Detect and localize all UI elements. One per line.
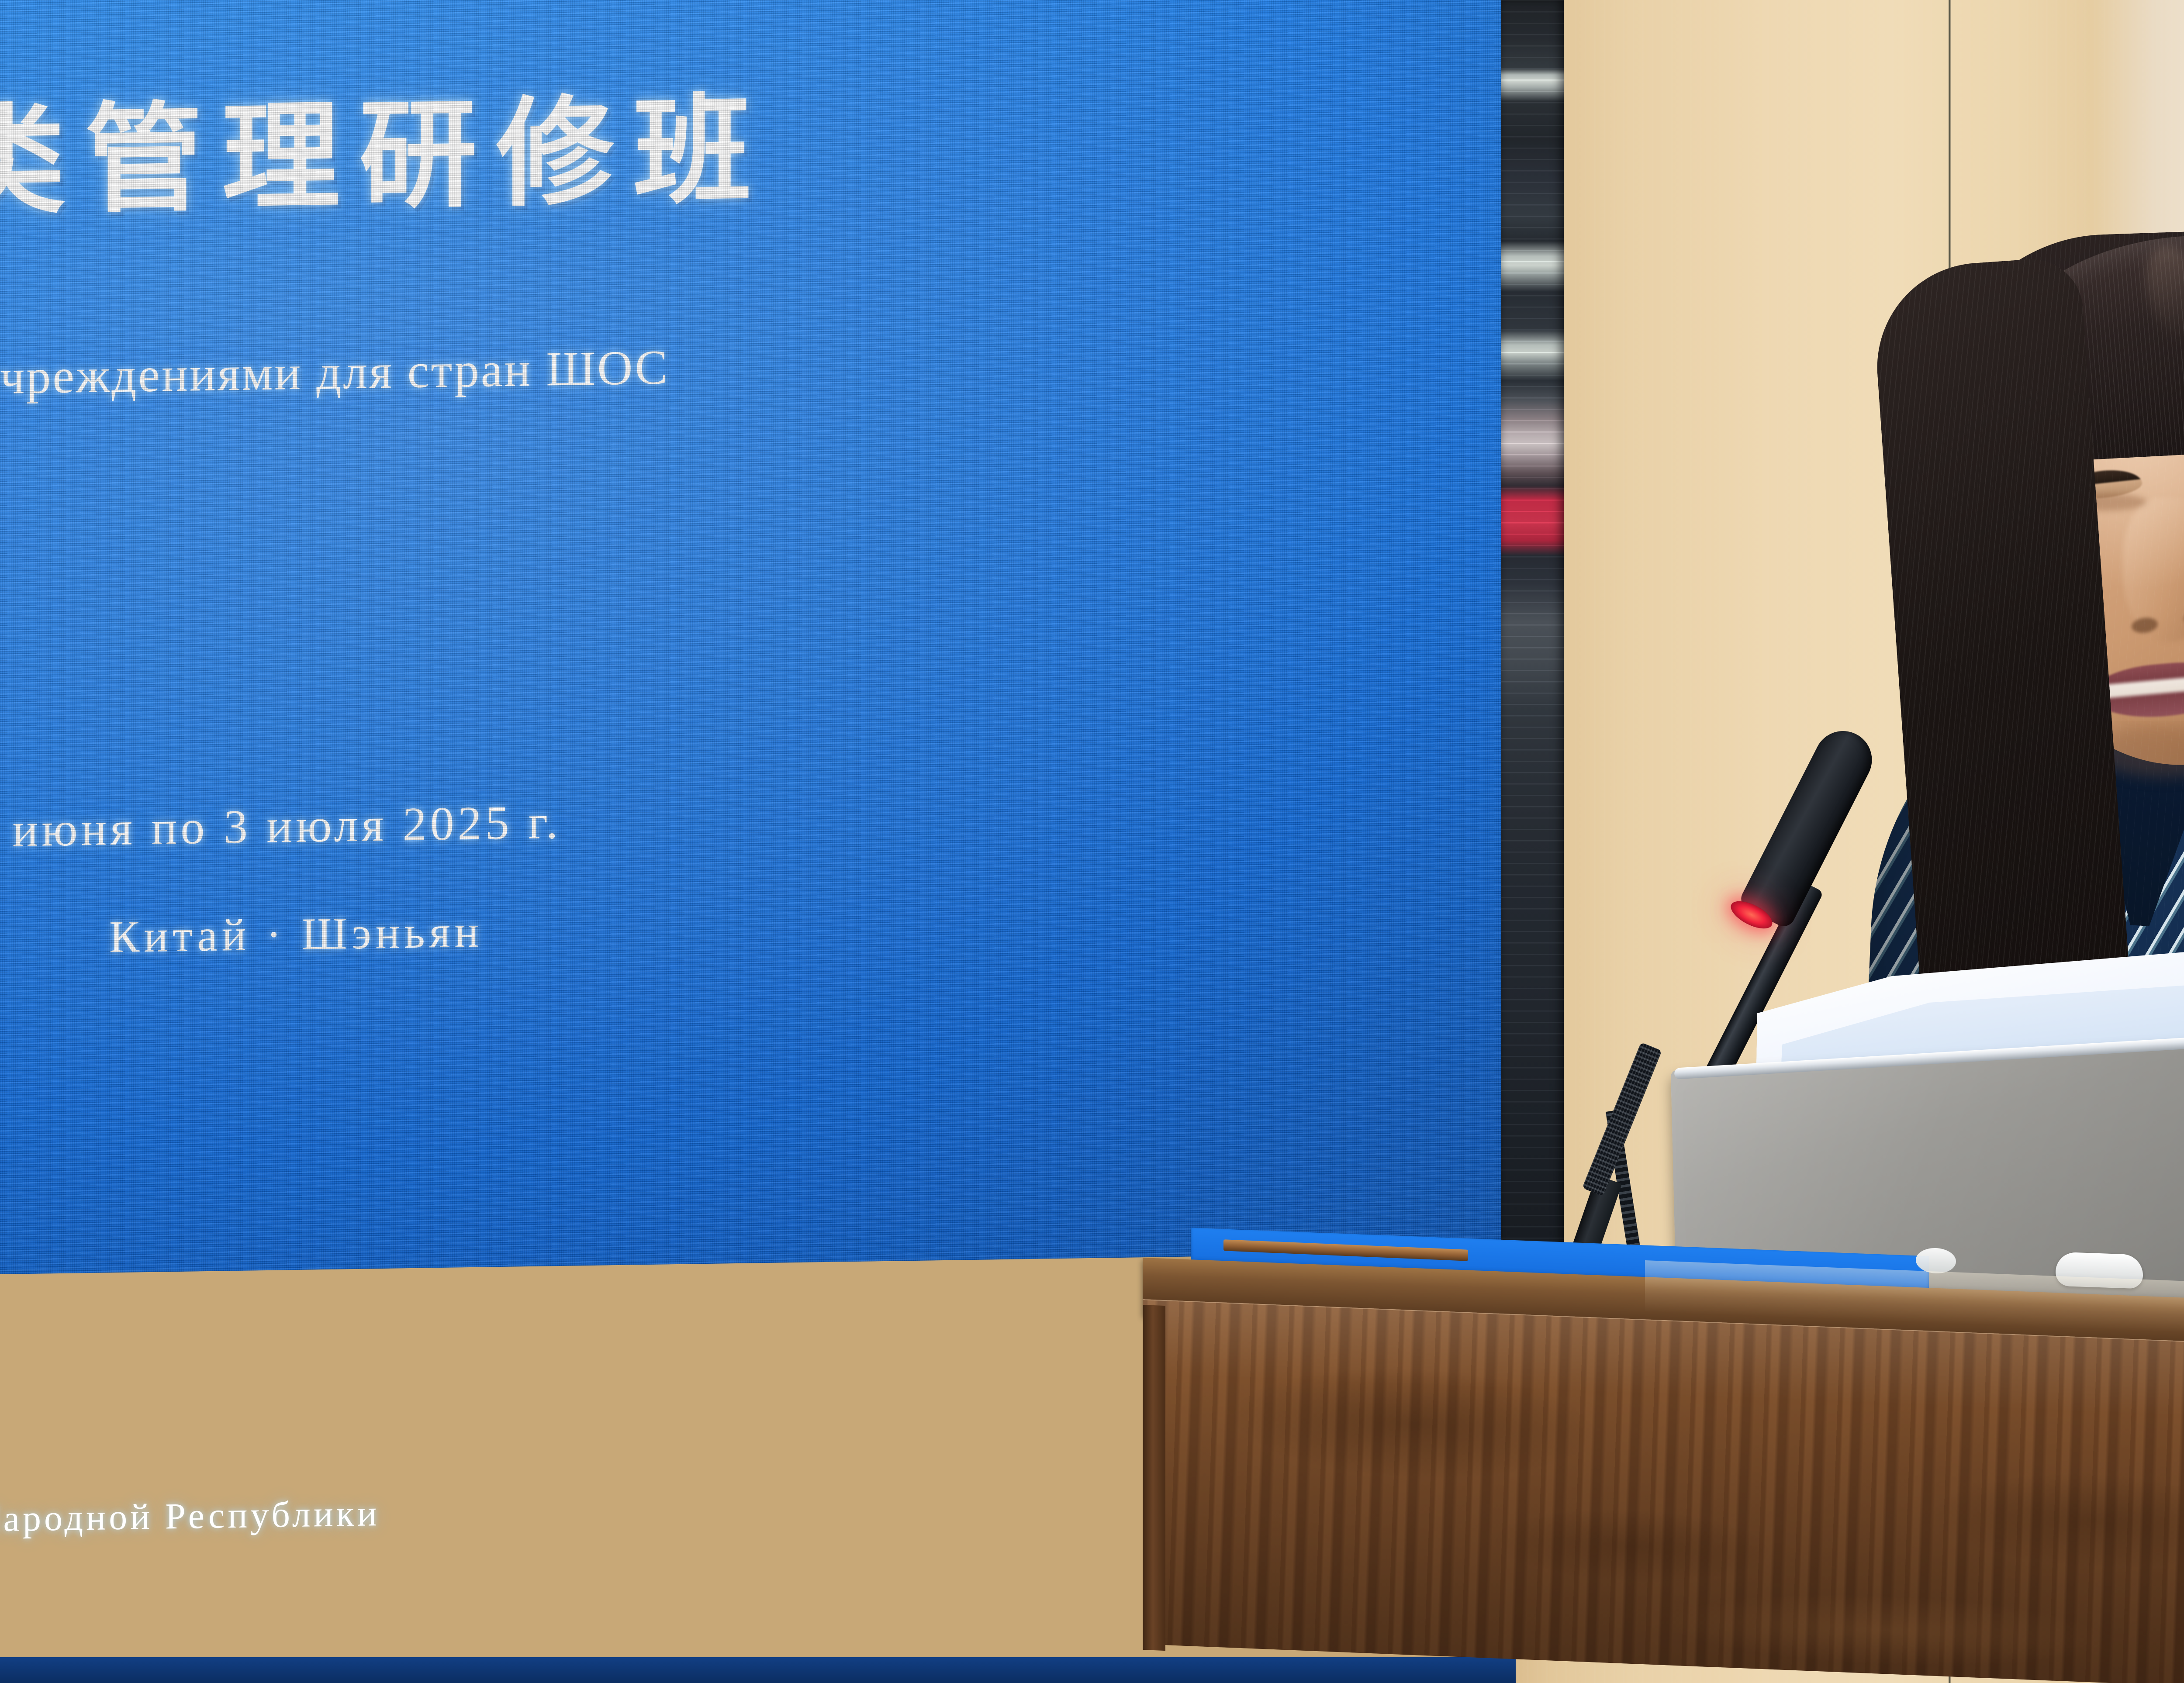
lectern bbox=[1143, 1258, 2184, 1683]
photo-scene: 类管理研修班 учреждениями для стран ШОС 0 июня… bbox=[0, 0, 2184, 1683]
led-display-screen: 类管理研修班 учреждениями для стран ШОС 0 июня… bbox=[0, 0, 1501, 1274]
screen-russian-subtitle: учреждениями для стран ШОС bbox=[0, 339, 669, 406]
column-reflection-bands bbox=[1499, 0, 1564, 1269]
screen-russian-date: 0 июня по 3 июля 2025 г. bbox=[0, 794, 561, 859]
lectern-left-edge bbox=[1143, 1305, 1165, 1651]
screen-russian-place: Китай · Шэньян bbox=[109, 906, 483, 963]
screen-russian-footer: Народной Республики bbox=[0, 1492, 380, 1541]
screen-chinese-title: 类管理研修班 bbox=[0, 54, 771, 237]
lectern-wood-grain bbox=[1143, 1299, 2184, 1683]
